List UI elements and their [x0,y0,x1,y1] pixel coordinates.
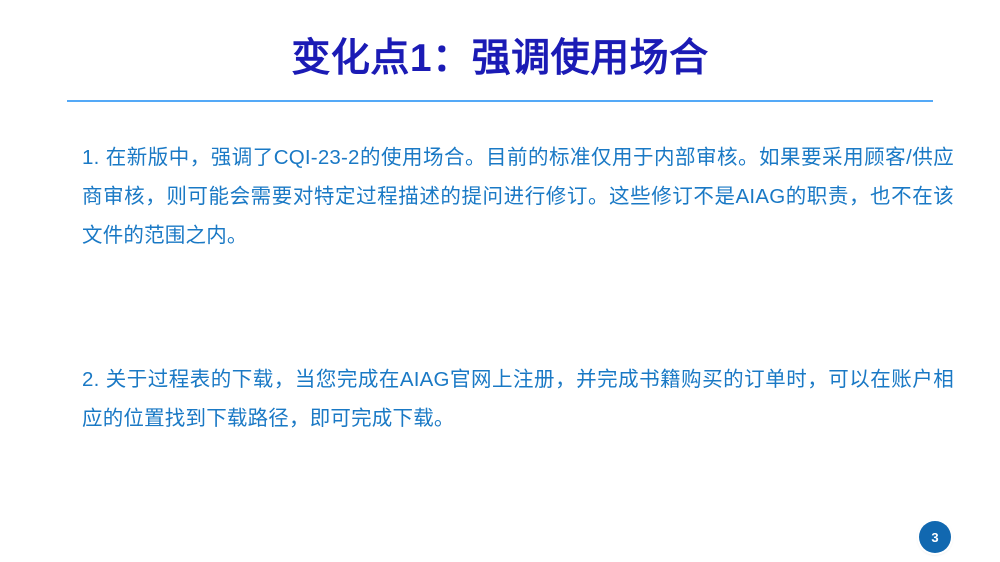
list-marker-1: 1. [82,146,100,169]
page-number-badge: 3 [919,521,951,553]
paragraph-text-2: 关于过程表的下载，当您完成在AIAG官网上注册，并完成书籍购买的订单时，可以在账… [82,368,954,430]
list-marker-2: 2. [82,368,100,391]
body-paragraph-1: 1. 在新版中，强调了CQI-23-2的使用场合。目前的标准仅用于内部审核。如果… [82,138,954,255]
title-divider [67,100,933,102]
page-title: 变化点1：强调使用场合 [0,36,1000,82]
page-number-label: 3 [931,531,938,544]
body-paragraph-2: 2. 关于过程表的下载，当您完成在AIAG官网上注册，并完成书籍购买的订单时，可… [82,360,954,438]
slide-body: 1. 在新版中，强调了CQI-23-2的使用场合。目前的标准仅用于内部审核。如果… [82,138,954,438]
paragraph-text-1: 在新版中，强调了CQI-23-2的使用场合。目前的标准仅用于内部审核。如果要采用… [82,146,954,247]
slide-canvas: 变化点1：强调使用场合 1. 在新版中，强调了CQI-23-2的使用场合。目前的… [0,0,1000,562]
